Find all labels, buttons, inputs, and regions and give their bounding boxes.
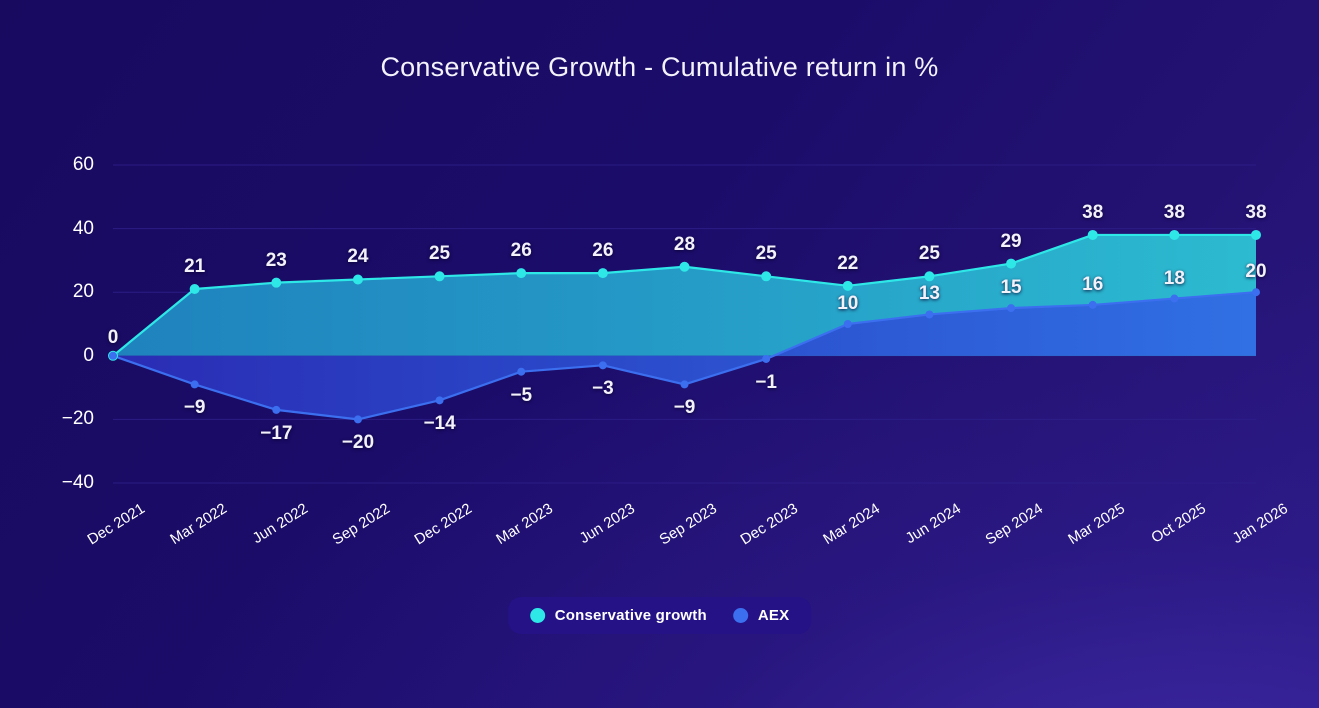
y-axis-tick-label: 20 <box>30 281 94 303</box>
data-point-label: 38 <box>1082 202 1103 224</box>
data-point-label: −9 <box>674 397 696 419</box>
data-point-label: −5 <box>510 385 532 407</box>
legend-label: AEX <box>758 607 789 624</box>
data-point-label: 25 <box>756 243 777 265</box>
data-point-label: 18 <box>1164 268 1185 290</box>
data-point-label: 16 <box>1082 274 1103 296</box>
legend-dot-icon <box>733 608 748 623</box>
legend-dot-icon <box>530 608 545 623</box>
data-point-label: 24 <box>347 246 368 268</box>
data-point-label: 0 <box>108 327 119 349</box>
data-point-label: 38 <box>1245 202 1266 224</box>
data-point-label: 15 <box>1000 277 1021 299</box>
legend-item-conservative-growth[interactable]: Conservative growth <box>530 607 707 624</box>
chart-container: Conservative Growth - Cumulative return … <box>0 0 1319 708</box>
data-point-label: 10 <box>837 293 858 315</box>
y-axis-tick-label: 40 <box>30 218 94 240</box>
data-point-label: −14 <box>423 413 455 435</box>
data-point-label: −20 <box>342 432 374 454</box>
y-axis-tick-label: 60 <box>30 154 94 176</box>
data-point-label: 26 <box>592 240 613 262</box>
chart-legend[interactable]: Conservative growth AEX <box>508 597 812 634</box>
data-point-label: 26 <box>511 240 532 262</box>
data-point-label: −1 <box>755 372 777 394</box>
legend-item-aex[interactable]: AEX <box>733 607 789 624</box>
data-point-label: 13 <box>919 283 940 305</box>
data-point-label: 20 <box>1245 261 1266 283</box>
data-point-label: 25 <box>919 243 940 265</box>
y-axis-tick-label: 0 <box>30 345 94 367</box>
data-point-label: −17 <box>260 423 292 445</box>
legend-label: Conservative growth <box>555 607 707 624</box>
data-point-label: −3 <box>592 378 614 400</box>
data-point-label: 28 <box>674 234 695 256</box>
data-point-label: 23 <box>266 250 287 272</box>
y-axis-tick-label: −40 <box>30 472 94 494</box>
data-point-label: 22 <box>837 253 858 275</box>
data-point-label: 21 <box>184 256 205 278</box>
y-axis-tick-label: −20 <box>30 408 94 430</box>
data-point-label: 38 <box>1164 202 1185 224</box>
data-point-label: 25 <box>429 243 450 265</box>
data-point-label: −9 <box>184 397 206 419</box>
data-point-label: 29 <box>1000 231 1021 253</box>
